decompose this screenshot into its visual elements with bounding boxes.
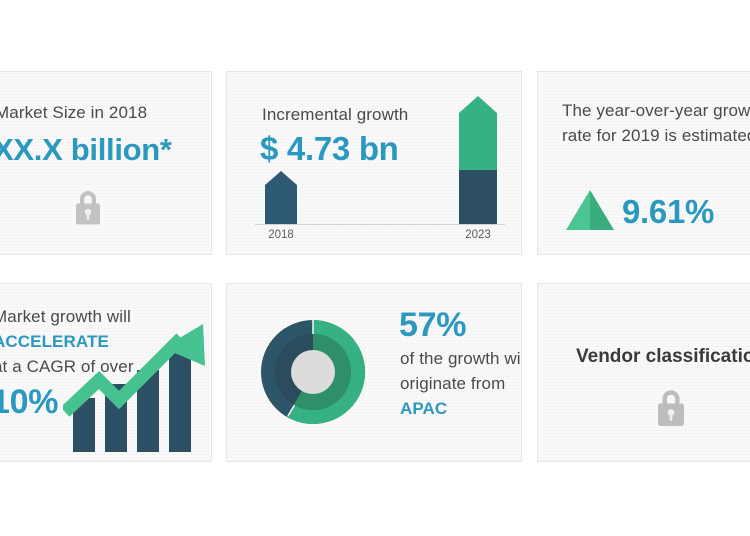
card-incremental-growth: Incremental growth $ 4.73 bn 2018	[226, 71, 522, 255]
card-vendor-classification: Vendor classification	[537, 283, 750, 462]
cagr-value: 10%	[0, 383, 58, 422]
bar-label-2018: 2018	[257, 229, 305, 241]
card-yoy-growth-rate: The year-over-year growth rate for 2019 …	[537, 71, 750, 255]
apac-region-label: APAC	[400, 396, 447, 421]
apac-share-value: 57%	[399, 306, 466, 345]
triangle-up-icon	[566, 190, 614, 230]
apac-line-1: of the growth will	[400, 346, 522, 371]
card-cagr-acceleration: Market growth will ACCELERATE at a CAGR …	[0, 283, 212, 462]
apac-line-2: originate from	[400, 371, 505, 396]
lock-icon	[69, 185, 107, 229]
cagr-trend-chart	[63, 322, 212, 454]
incremental-growth-value: $ 4.73 bn	[260, 130, 399, 168]
card-apac-share: 57% of the growth will originate from AP…	[226, 283, 522, 462]
trend-bar-4	[169, 348, 191, 452]
bar-2018	[265, 171, 297, 224]
incremental-growth-label: Incremental growth	[262, 102, 408, 127]
lock-icon	[651, 384, 691, 430]
yoy-growth-rate-value: 9.61%	[622, 193, 714, 231]
card-market-size: Market Size in 2018 XX.X billion*	[0, 71, 212, 255]
bar-label-2023: 2023	[454, 229, 502, 241]
apac-donut-chart	[249, 308, 377, 436]
yoy-growth-rate-label: The year-over-year growth rate for 2019 …	[562, 98, 750, 148]
chart-baseline	[255, 224, 505, 225]
market-size-value: XX.X billion*	[0, 132, 172, 168]
vendor-classification-label: Vendor classification	[576, 346, 750, 368]
market-size-label: Market Size in 2018	[0, 100, 147, 125]
bar-2023	[459, 96, 497, 224]
infographic-board: Market Size in 2018 XX.X billion* Increm…	[0, 0, 750, 536]
